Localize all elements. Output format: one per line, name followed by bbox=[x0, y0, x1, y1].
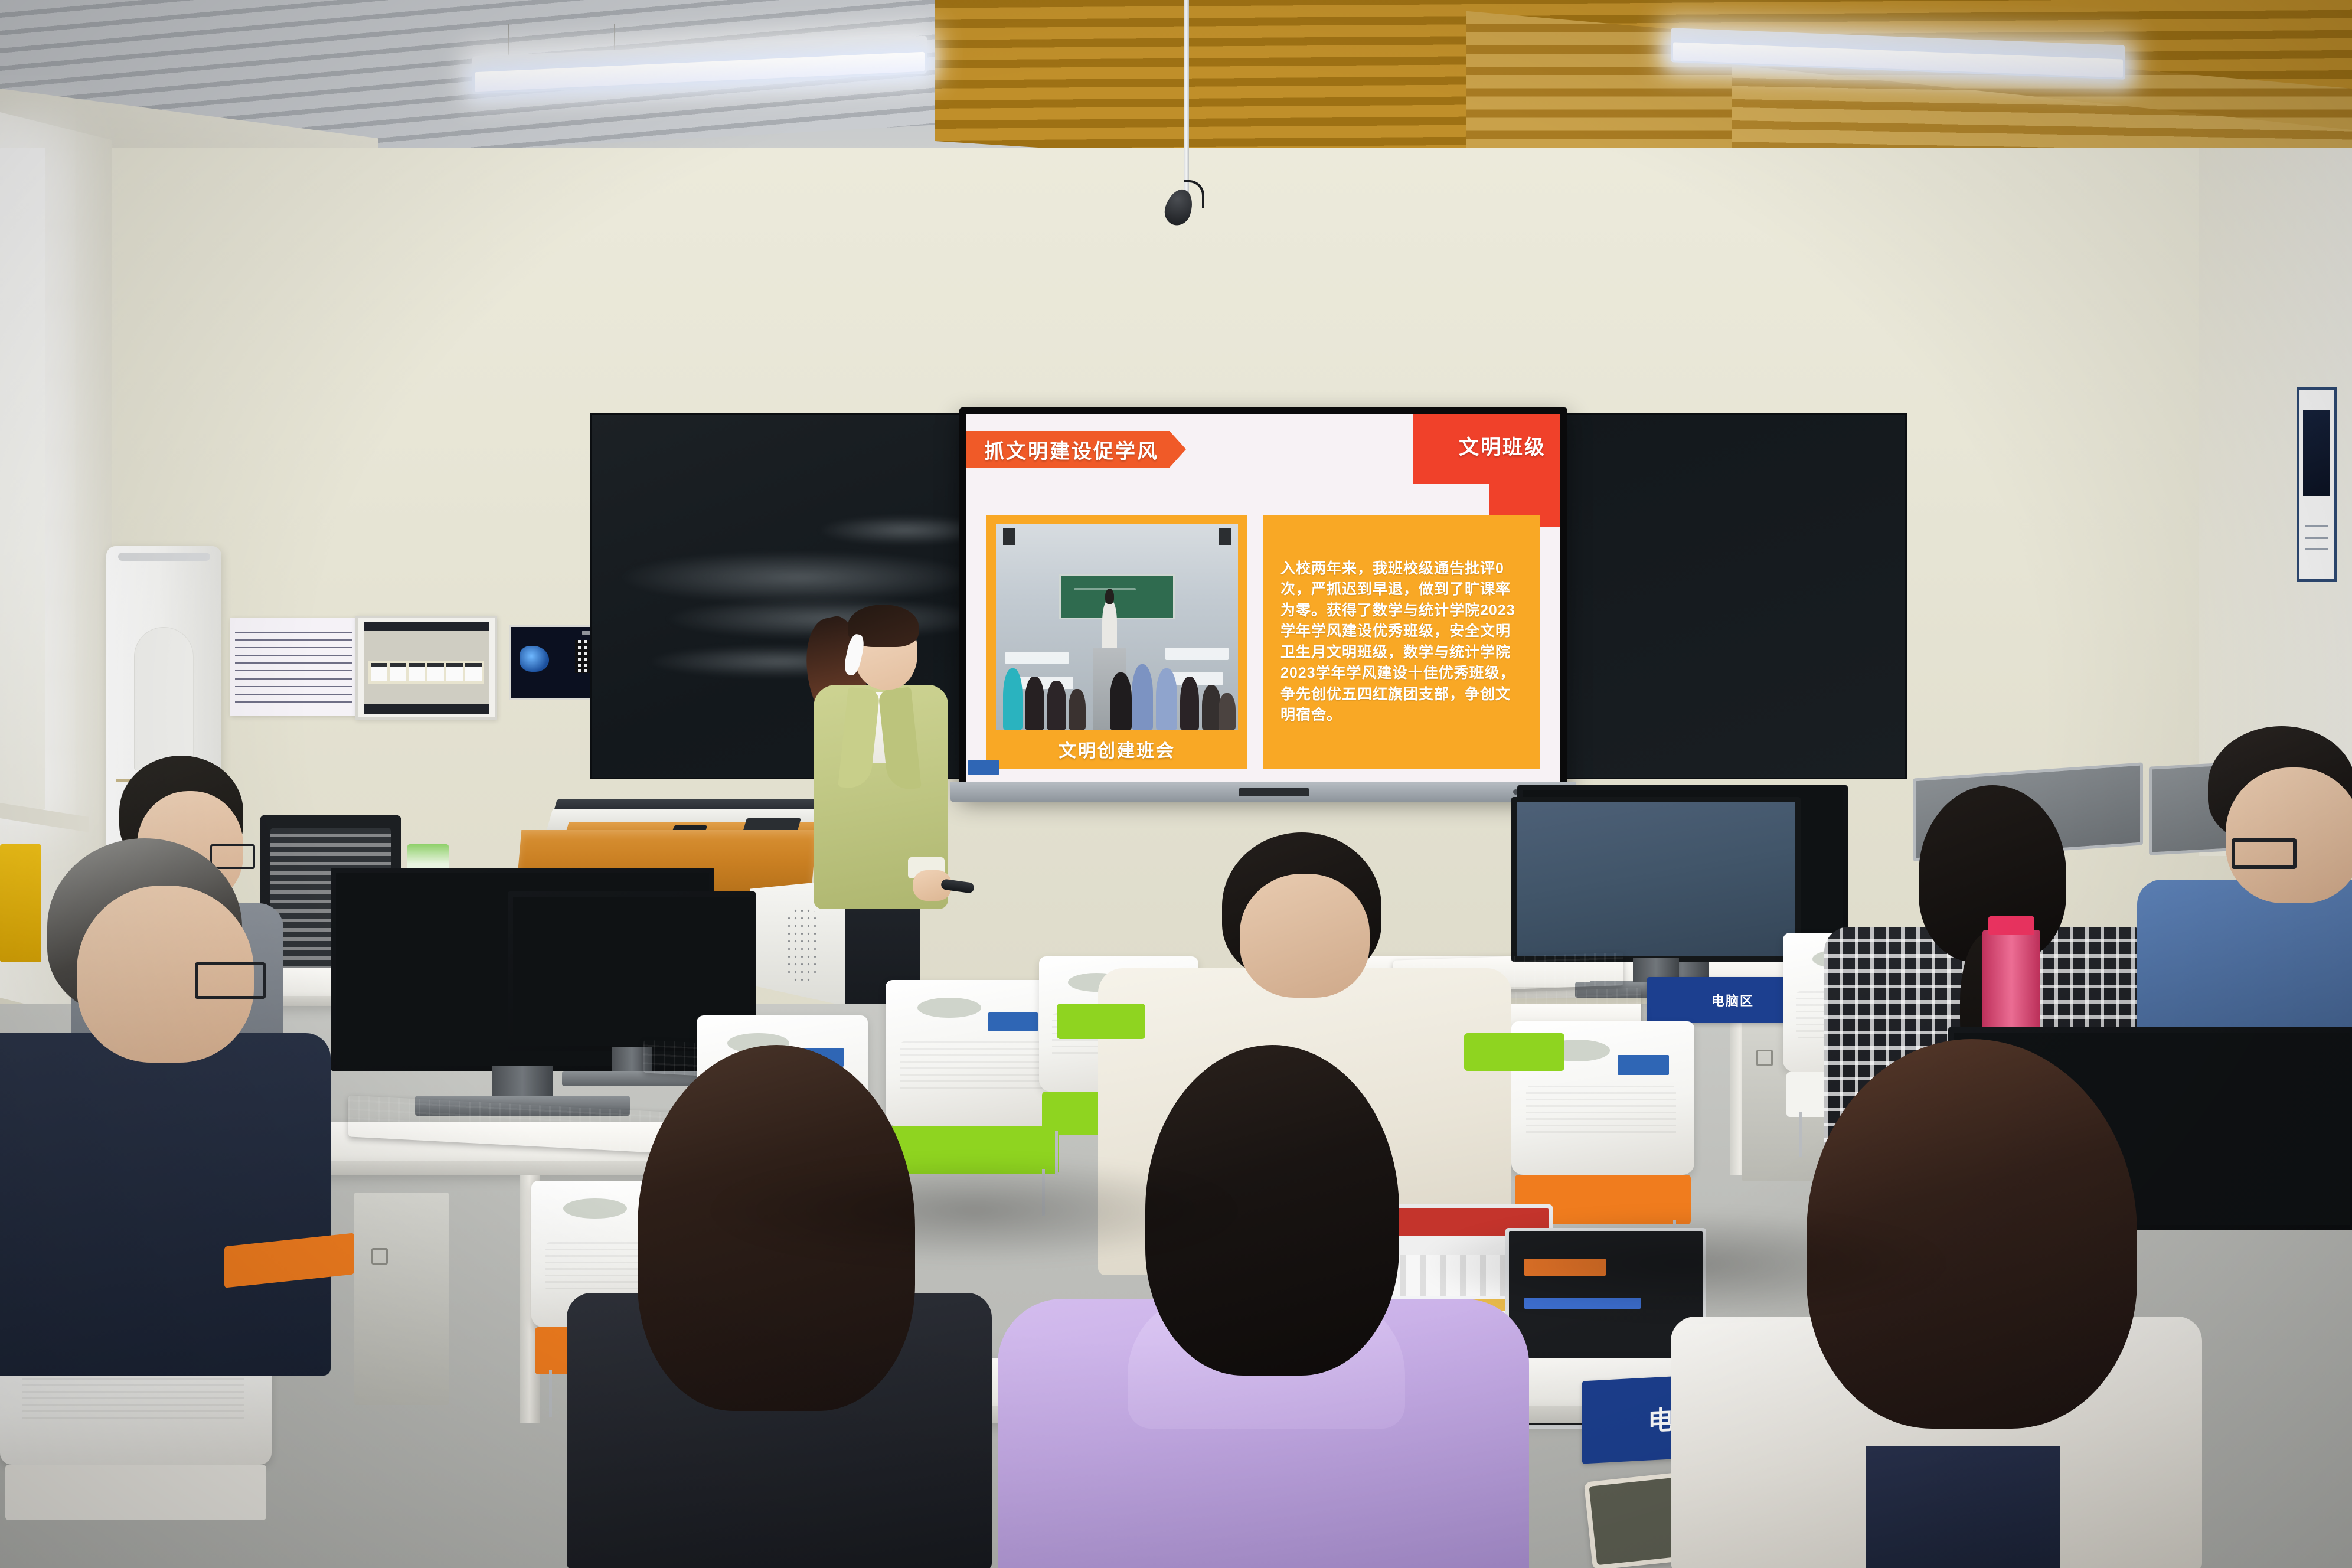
glasses-icon-3 bbox=[2232, 838, 2297, 869]
slide-text-panel: 入校两年来，我班校级通告批评0次，严抓迟到早退，做到了旷课率为零。获得了数学与统… bbox=[1263, 515, 1540, 769]
chair-cushion-green-2 bbox=[1464, 1033, 1564, 1071]
slide-banner: 抓文明建设促学风 bbox=[966, 431, 1186, 468]
display-bottom-bezel[interactable] bbox=[950, 782, 1576, 802]
glasses-icon-2 bbox=[195, 962, 266, 999]
slide-body: 文明创建班会 入校两年来，我班校级通告批评0次，严抓迟到早退，做到了旷课率为零。… bbox=[966, 515, 1560, 769]
slide-photo-panel: 文明创建班会 bbox=[986, 515, 1247, 769]
window bbox=[0, 148, 45, 809]
slide-body-text: 入校两年来，我班校级通告批评0次，严抓迟到早退，做到了旷课率为零。获得了数学与统… bbox=[1280, 558, 1523, 726]
breaker-strip-top bbox=[364, 622, 489, 631]
breaker-switch-row[interactable] bbox=[368, 661, 484, 683]
presenter bbox=[797, 590, 962, 1039]
display-asset-tag bbox=[968, 760, 999, 775]
microphone-rod bbox=[1184, 0, 1189, 195]
presentation-slide: 抓文明建设促学风 文明班级 bbox=[966, 414, 1560, 787]
lined-poster bbox=[230, 618, 357, 716]
ac-vent bbox=[134, 627, 194, 770]
student-right-inner-top bbox=[1866, 1446, 2060, 1568]
screen-graphic bbox=[520, 646, 549, 672]
breaker-panel-interior bbox=[364, 624, 489, 711]
cable-trough-left bbox=[354, 1193, 449, 1405]
student-dark-jacket bbox=[567, 1045, 992, 1568]
interactive-display[interactable]: 抓文明建设促学风 文明班级 bbox=[959, 407, 1567, 794]
attendee-denim bbox=[2137, 726, 2352, 1057]
chair-cushion-green-1 bbox=[1057, 1004, 1145, 1039]
classroom-scene: 抓文明建设促学风 文明班级 bbox=[0, 0, 2352, 1568]
attendee-front-left bbox=[0, 838, 331, 1370]
slide-corner-badge: 文明班级 bbox=[1413, 414, 1560, 527]
breaker-strip-bottom bbox=[364, 704, 489, 714]
slide-classroom-photo bbox=[996, 524, 1238, 730]
electrical-breaker-panel[interactable] bbox=[355, 616, 497, 720]
slide-photo-caption: 文明创建班会 bbox=[996, 730, 1238, 765]
display-speaker-grille bbox=[1239, 788, 1309, 796]
framed-poster bbox=[2297, 387, 2337, 582]
